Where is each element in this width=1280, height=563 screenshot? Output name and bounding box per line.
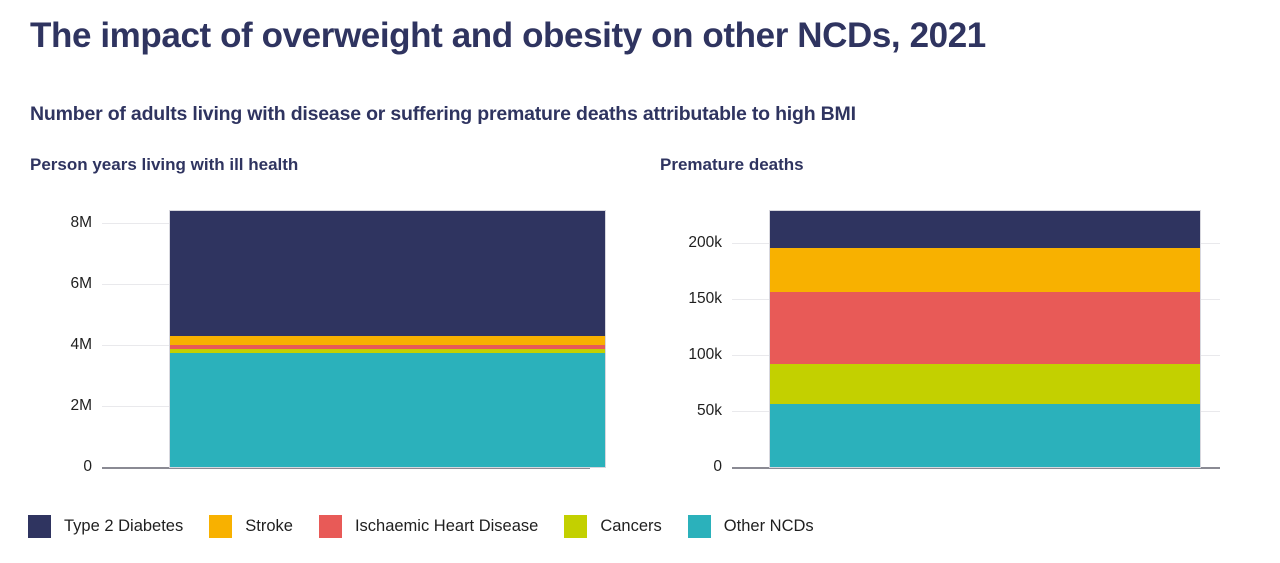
legend-swatch [319, 515, 342, 538]
chart-title: Person years living with ill health [30, 155, 298, 175]
stacked-bar[interactable] [170, 211, 605, 467]
bar-segment-cancers[interactable] [770, 364, 1200, 404]
legend-label: Ischaemic Heart Disease [355, 517, 538, 536]
y-axis-tick-label: 200k [660, 234, 722, 252]
legend-item[interactable]: Cancers [564, 515, 661, 538]
legend-item[interactable]: Other NCDs [688, 515, 814, 538]
bar-segment-other-ncds[interactable] [770, 404, 1200, 467]
page-title: The impact of overweight and obesity on … [30, 16, 986, 56]
y-axis-tick-label: 0 [30, 458, 92, 476]
chart-page: The impact of overweight and obesity on … [0, 0, 1280, 563]
y-axis-tick-label: 8M [30, 214, 92, 232]
bar-segment-ischaemic-heart-disease[interactable] [770, 292, 1200, 365]
bar-segment-stroke[interactable] [170, 336, 605, 345]
page-subtitle: Number of adults living with disease or … [30, 103, 856, 126]
y-axis-tick-label: 2M [30, 397, 92, 415]
legend-swatch [564, 515, 587, 538]
legend-swatch [688, 515, 711, 538]
y-axis-tick-label: 150k [660, 290, 722, 308]
legend-swatch [28, 515, 51, 538]
legend-label: Cancers [600, 517, 661, 536]
plot-area: 02M4M6M8M [30, 210, 590, 480]
x-axis-line [102, 467, 590, 469]
legend-label: Stroke [245, 517, 293, 536]
y-axis-tick-label: 4M [30, 336, 92, 354]
x-axis-line [732, 467, 1220, 469]
stacked-bar[interactable] [770, 211, 1200, 467]
legend: Type 2 DiabetesStrokeIschaemic Heart Dis… [28, 515, 840, 538]
legend-item[interactable]: Stroke [209, 515, 293, 538]
legend-item[interactable]: Type 2 Diabetes [28, 515, 183, 538]
chart-title: Premature deaths [660, 155, 804, 175]
legend-swatch [209, 515, 232, 538]
y-axis-tick-label: 100k [660, 346, 722, 364]
plot-area: 050k100k150k200k [660, 210, 1220, 480]
y-axis-tick-label: 0 [660, 458, 722, 476]
y-axis-tick-label: 6M [30, 275, 92, 293]
legend-item[interactable]: Ischaemic Heart Disease [319, 515, 538, 538]
bar-segment-type-2-diabetes[interactable] [770, 211, 1200, 248]
bar-segment-other-ncds[interactable] [170, 353, 605, 467]
bar-segment-type-2-diabetes[interactable] [170, 211, 605, 336]
bar-segment-stroke[interactable] [770, 248, 1200, 292]
legend-label: Type 2 Diabetes [64, 517, 183, 536]
legend-label: Other NCDs [724, 517, 814, 536]
y-axis-tick-label: 50k [660, 402, 722, 420]
